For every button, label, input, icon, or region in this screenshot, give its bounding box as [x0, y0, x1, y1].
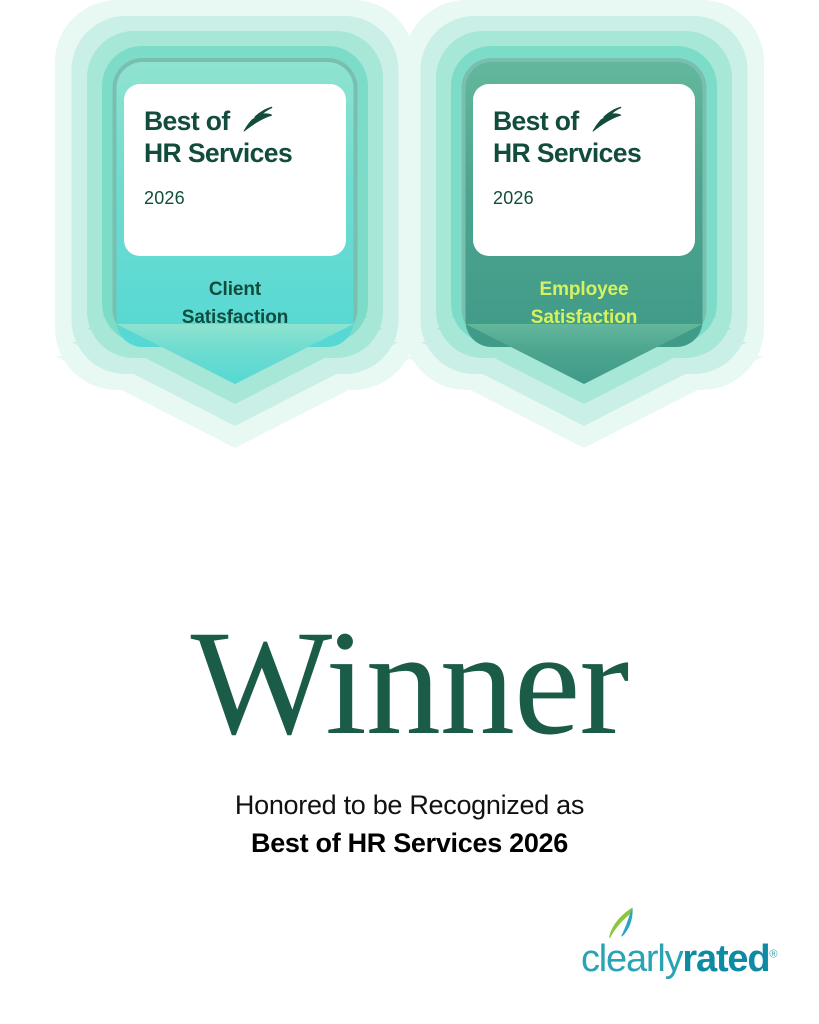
badge-title-line2: HR Services [493, 138, 641, 168]
winner-title: Winner [0, 600, 819, 758]
award-badge-page: Best of HR Services 2026 Client Satisfac… [0, 0, 819, 1024]
registered-trademark-icon: ® [769, 948, 776, 960]
badge-card: Best of HR Services 2026 [473, 84, 695, 256]
badge-title-line1: Best of [144, 106, 230, 136]
badge-year: 2026 [144, 188, 326, 209]
badge-caption: Client Satisfaction [117, 276, 354, 331]
badges-area: Best of HR Services 2026 Client Satisfac… [0, 0, 819, 520]
badge-title-line1: Best of [493, 106, 579, 136]
badge-title-line2: HR Services [144, 138, 292, 168]
badge-caption-line1: Employee [466, 276, 703, 304]
clearlyrated-logo[interactable]: clearlyrated® [581, 906, 771, 978]
badge-caption: Employee Satisfaction [466, 276, 703, 331]
badge-card: Best of HR Services 2026 [124, 84, 346, 256]
badge-client-satisfaction[interactable]: Best of HR Services 2026 Client Satisfac… [55, 0, 415, 500]
winner-block: Winner Honored to be Recognized as Best … [0, 600, 819, 859]
badge-caption-line2: Satisfaction [117, 304, 354, 332]
logo-word-clearly: clearly [581, 938, 682, 980]
logo-word-rated: rated [682, 938, 769, 980]
winner-subtitle-line2: Best of HR Services 2026 [0, 828, 819, 859]
badge-caption-line1: Client [117, 276, 354, 304]
badge-title: Best of HR Services [144, 106, 326, 168]
leaf-icon [590, 106, 622, 139]
badge-caption-line2: Satisfaction [466, 304, 703, 332]
badge-title: Best of HR Services [493, 106, 675, 168]
leaf-icon [241, 106, 273, 139]
clearlyrated-wordmark: clearlyrated® [581, 940, 776, 978]
badge-employee-satisfaction[interactable]: Best of HR Services 2026 Employee Satisf… [404, 0, 764, 500]
winner-subtitle-line1: Honored to be Recognized as [0, 790, 819, 821]
badge-year: 2026 [493, 188, 675, 209]
